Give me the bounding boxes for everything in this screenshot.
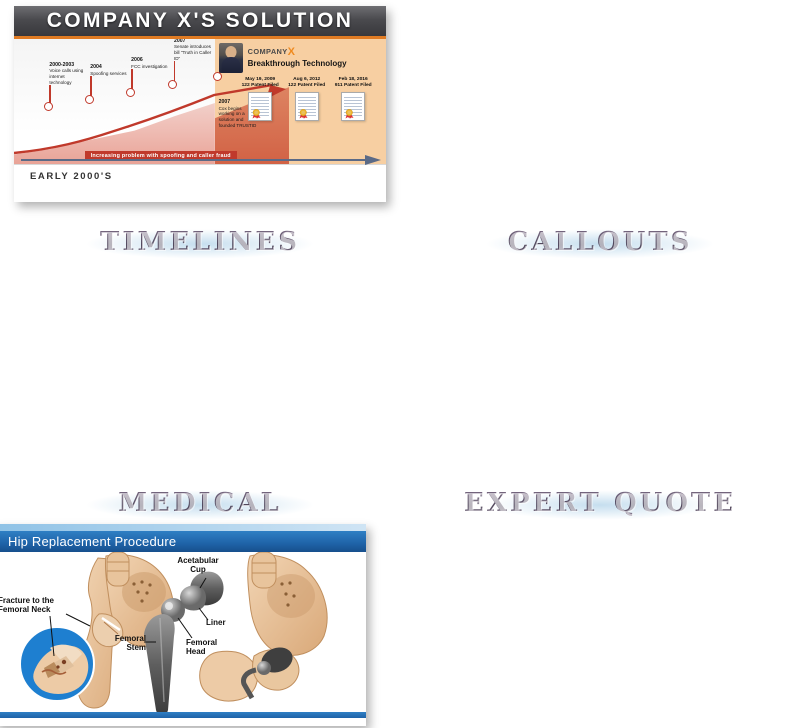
timeline-event-3: 2006 FCC investigation <box>131 57 169 70</box>
timeline-axis-label: EARLY 2000'S <box>30 171 113 182</box>
gallery-cell-timelines: COMPANY X'S SOLUTION <box>0 0 400 261</box>
patent-card-1: May 19, 2009 122 Patent Filed <box>237 77 283 121</box>
gallery-cell-callouts: Crypto Banc Loan – Actual Knowledge Tria… <box>400 0 800 261</box>
patent-card-2: Aug 6, 2012 122 Patent Filed <box>284 77 330 121</box>
femoral-stem-part <box>144 614 175 712</box>
timeline-canvas: 2000-2003 Voice calls using internet tec… <box>14 39 386 187</box>
patent-3-label: 911 Patent Filed <box>330 83 376 89</box>
caption-callouts: CALLOUTS <box>400 227 800 257</box>
timeline-event-4: 2007 Senate introduces bill "Truth in Ca… <box>174 39 212 62</box>
timeline-event-2-year: 2004 <box>90 64 128 71</box>
fracture-inset-detail <box>20 627 94 701</box>
timeline-event-4-text: Senate introduces bill "Truth in Caller … <box>174 44 211 61</box>
label-femoral-head: FemoralHead <box>186 638 217 657</box>
gallery-cell-expert-quote: Testimony of David Money <box>400 261 800 522</box>
label-liner: Liner <box>206 618 226 627</box>
brand-company-word: COMPANY <box>248 47 288 56</box>
medical-footer-bar <box>0 712 366 718</box>
timeline-event-1-text: Voice calls using internet technology <box>49 68 83 85</box>
timeline-dot-2 <box>85 95 94 104</box>
timeline-axis-arrow <box>21 155 381 165</box>
patent-3-seal-icon <box>344 108 355 119</box>
patent-1-seal-icon <box>251 108 262 119</box>
hip-anatomy-illustration <box>0 552 366 712</box>
company-brand-lockup: COMPANYX Breakthrough Technology <box>219 43 347 73</box>
caption-timelines-label: TIMELINES <box>100 227 300 257</box>
timeline-axis-footer: EARLY 2000'S <box>14 164 386 187</box>
executive-portrait <box>219 43 243 73</box>
caption-timelines: TIMELINES <box>0 227 400 257</box>
slide-hip-replacement[interactable]: Hip Replacement Procedure <box>0 524 366 726</box>
timeline-dot-5 <box>213 72 222 81</box>
label-acetabular-cup: AcetabularCup <box>162 556 234 575</box>
timeline-event-3-year: 2006 <box>131 57 169 64</box>
label-fracture-to-femoral-neck: Fracture to theFemoral Neck <box>0 596 54 615</box>
brand-company-name: COMPANYX <box>248 46 347 58</box>
patent-3-document-icon <box>341 92 365 121</box>
caption-callouts-label: CALLOUTS <box>508 227 693 257</box>
timeline-event-3-text: FCC investigation <box>131 64 167 69</box>
brand-tagline: Breakthrough Technology <box>248 59 347 68</box>
medical-illustration-canvas: Fracture to theFemoral Neck AcetabularCu… <box>0 552 366 712</box>
timeline-event-1: 2000-2003 Voice calls using internet tec… <box>49 62 87 86</box>
slide-company-x-solution[interactable]: COMPANY X'S SOLUTION <box>14 6 386 202</box>
timeline-dot-1 <box>44 102 53 111</box>
timeline-event-2-text: Spoofing services <box>90 71 126 76</box>
caption-expert-quote-label: EXPERT QUOTE <box>464 488 736 518</box>
patent-card-3: Feb 18, 2016 911 Patent Filed <box>330 77 376 121</box>
patent-1-label: 122 Patent Filed <box>237 83 283 89</box>
patent-1-document-icon <box>248 92 272 121</box>
gallery-cell-medical: Hip Replacement Procedure <box>0 261 400 522</box>
caption-medical: MEDICAL <box>0 488 400 518</box>
patent-2-seal-icon <box>298 108 309 119</box>
patent-2-document-icon <box>295 92 319 121</box>
patent-2-label: 122 Patent Filed <box>284 83 330 89</box>
brand-x-mark: X <box>288 46 296 58</box>
slide-title-hip-replacement: Hip Replacement Procedure <box>0 531 366 552</box>
slide-gallery: COMPANY X'S SOLUTION <box>0 0 800 522</box>
caption-medical-label: MEDICAL <box>118 488 281 518</box>
brand-text: COMPANYX Breakthrough Technology <box>248 43 347 68</box>
timeline-event-2: 2004 Spoofing services <box>90 64 128 77</box>
label-femoral-stem: FemoralStem <box>106 634 146 653</box>
slide-title-company-x: COMPANY X'S SOLUTION <box>14 6 386 36</box>
timeline-event-1-year: 2000-2003 <box>49 62 87 69</box>
medical-top-accent-bar <box>0 524 366 531</box>
caption-expert-quote: EXPERT QUOTE <box>400 488 800 518</box>
timeline-dot-3 <box>126 88 135 97</box>
